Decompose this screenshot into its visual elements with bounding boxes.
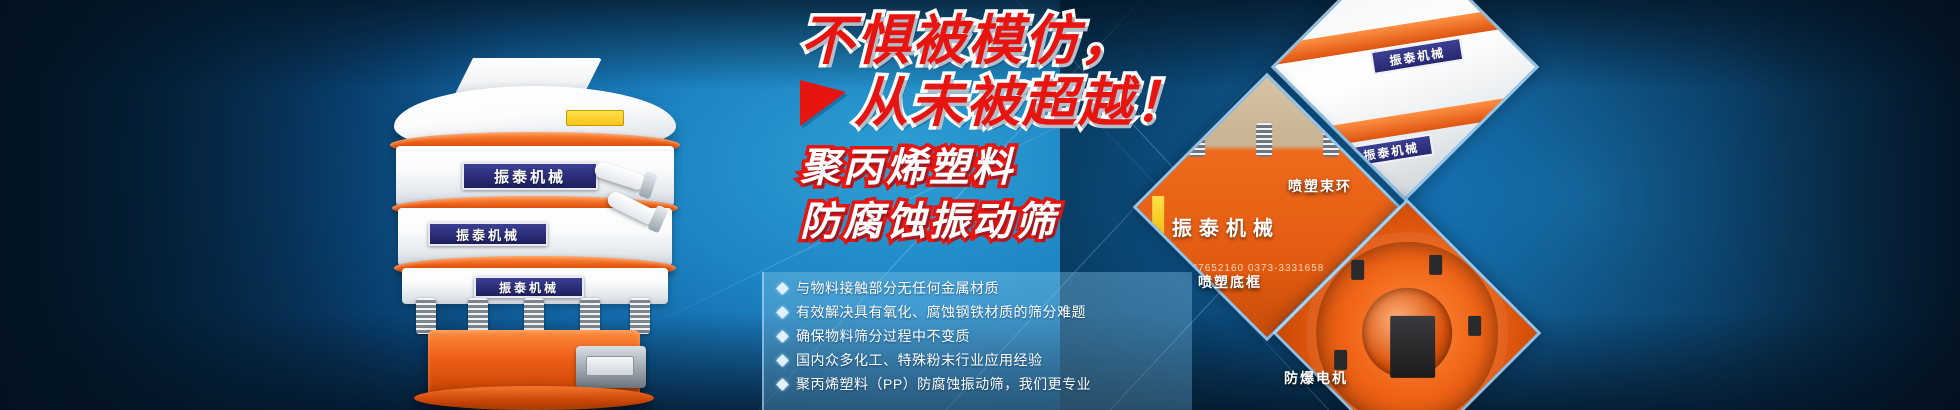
thumb-motor-bolt (1469, 316, 1482, 336)
thumb-motor-bolt (1334, 350, 1347, 370)
feature-item-3: 确保物料筛分过程中不变质 (778, 329, 1192, 343)
thumbnail-label-base-frame: 喷塑底框 (1198, 272, 1262, 292)
diamond-bullet-icon (776, 282, 789, 295)
brand-plate-main: 振泰机械 (462, 162, 598, 190)
product-spring (580, 298, 600, 334)
thumb-brand-text: 振泰机械 (1172, 213, 1280, 242)
thumb-spring (1189, 123, 1205, 157)
promo-banner: 振泰机械 振泰机械 振泰机械 不惧被模仿， 从未被超越！ 聚丙烯塑料 (0, 0, 1960, 410)
brand-plate-mid: 振泰机械 (428, 222, 548, 246)
thumb-spring (1256, 123, 1272, 157)
product-spring (524, 298, 544, 334)
feature-item-2: 有效解决具有氧化、腐蚀钢铁材质的筛分难题 (778, 305, 1192, 319)
thumb-motor-bolt (1351, 260, 1364, 280)
thumb-motor-bolt (1429, 255, 1442, 275)
feature-item-4: 国内众多化工、特殊粉末行业应用经验 (778, 353, 1192, 367)
diamond-bullet-icon (776, 306, 789, 319)
thumbnail-label-motor: 防爆电机 (1284, 368, 1348, 388)
product-base-flange (414, 386, 654, 410)
thumb-motor-terminal-box (1390, 316, 1435, 378)
feature-list-panel: 与物料接触部分无任何金属材质 有效解决具有氧化、腐蚀钢铁材质的筛分难题 确保物料… (762, 272, 1192, 410)
feature-item-5-label: 聚丙烯塑料（PP）防腐蚀振动筛，我们更专业 (796, 377, 1091, 391)
feature-item-5: 聚丙烯塑料（PP）防腐蚀振动筛，我们更专业 (778, 377, 1192, 391)
feature-item-2-label: 有效解决具有氧化、腐蚀钢铁材质的筛分难题 (796, 305, 1086, 319)
red-triangle-icon (800, 80, 846, 126)
detail-thumbnail-group: 振泰机械 振泰机械 振泰机械 13007652160 0373-3331658 (1180, 0, 1680, 410)
diamond-bullet-icon (776, 378, 789, 391)
diamond-bullet-icon (776, 354, 789, 367)
product-spring (416, 298, 436, 334)
feature-item-4-label: 国内众多化工、特殊粉末行业应用经验 (796, 353, 1043, 367)
feature-item-3-label: 确保物料筛分过程中不变质 (796, 329, 970, 343)
headline-line-2: 从未被超越！ (854, 76, 1190, 130)
product-image-vibrating-sieve: 振泰机械 振泰机械 振泰机械 (370, 50, 700, 400)
thumbnail-label-clamp-ring: 喷塑束环 (1288, 176, 1352, 196)
product-motor-nameplate (586, 356, 634, 376)
product-spring (468, 298, 488, 334)
product-warning-sticker (566, 110, 624, 126)
brand-plate-low: 振泰机械 (474, 276, 584, 298)
feature-item-1-label: 与物料接触部分无任何金属材质 (796, 281, 999, 295)
diamond-bullet-icon (776, 330, 789, 343)
product-spring (630, 298, 650, 334)
feature-item-1: 与物料接触部分无任何金属材质 (778, 281, 1192, 295)
